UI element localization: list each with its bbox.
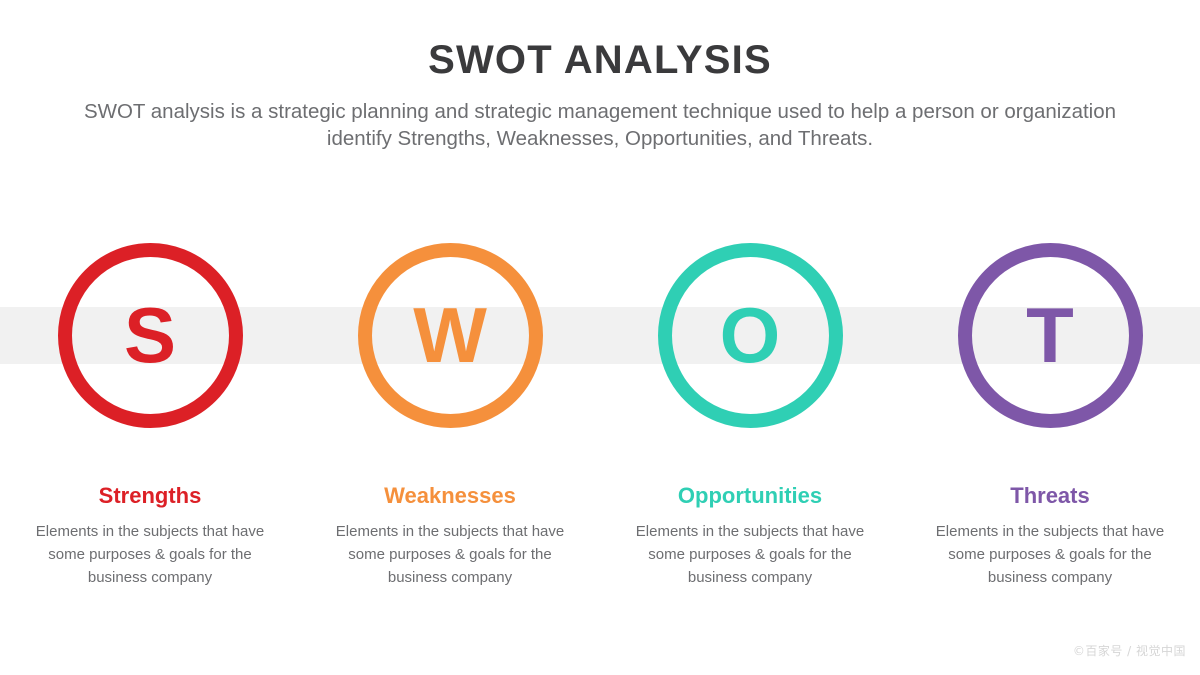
column-description-weaknesses: Elements in the subjects that have some … [335,508,565,589]
ring-letter-w: W [413,296,487,374]
watermark: ©百家号 / 视觉中国 [1073,642,1186,659]
page-subtitle: SWOT analysis is a strategic planning an… [60,82,1140,152]
column-heading-opportunities: Opportunities [678,428,822,508]
column-description-threats: Elements in the subjects that have some … [935,508,1165,589]
column-description-strengths: Elements in the subjects that have some … [35,508,265,589]
swot-columns: S Strengths Elements in the subjects tha… [0,243,1200,623]
swot-column-strengths[interactable]: S Strengths Elements in the subjects tha… [0,243,300,623]
column-heading-threats: Threats [1010,428,1089,508]
ring-letter-s: S [124,296,176,374]
ring-letter-t: T [1026,296,1074,374]
slide-header: SWOT ANALYSIS SWOT analysis is a strateg… [0,0,1200,152]
swot-slide: SWOT ANALYSIS SWOT analysis is a strateg… [0,0,1200,675]
swot-column-weaknesses[interactable]: W Weaknesses Elements in the subjects th… [300,243,600,623]
swot-column-opportunities[interactable]: O Opportunities Elements in the subjects… [600,243,900,623]
column-heading-strengths: Strengths [99,428,202,508]
page-title: SWOT ANALYSIS [0,0,1200,82]
ring-letter-o: O [720,296,781,374]
column-description-opportunities: Elements in the subjects that have some … [635,508,865,589]
letter-circle-s: S [58,243,243,428]
letter-circle-w: W [358,243,543,428]
letter-circle-o: O [658,243,843,428]
letter-circle-t: T [958,243,1143,428]
swot-column-threats[interactable]: T Threats Elements in the subjects that … [900,243,1200,623]
column-heading-weaknesses: Weaknesses [384,428,516,508]
